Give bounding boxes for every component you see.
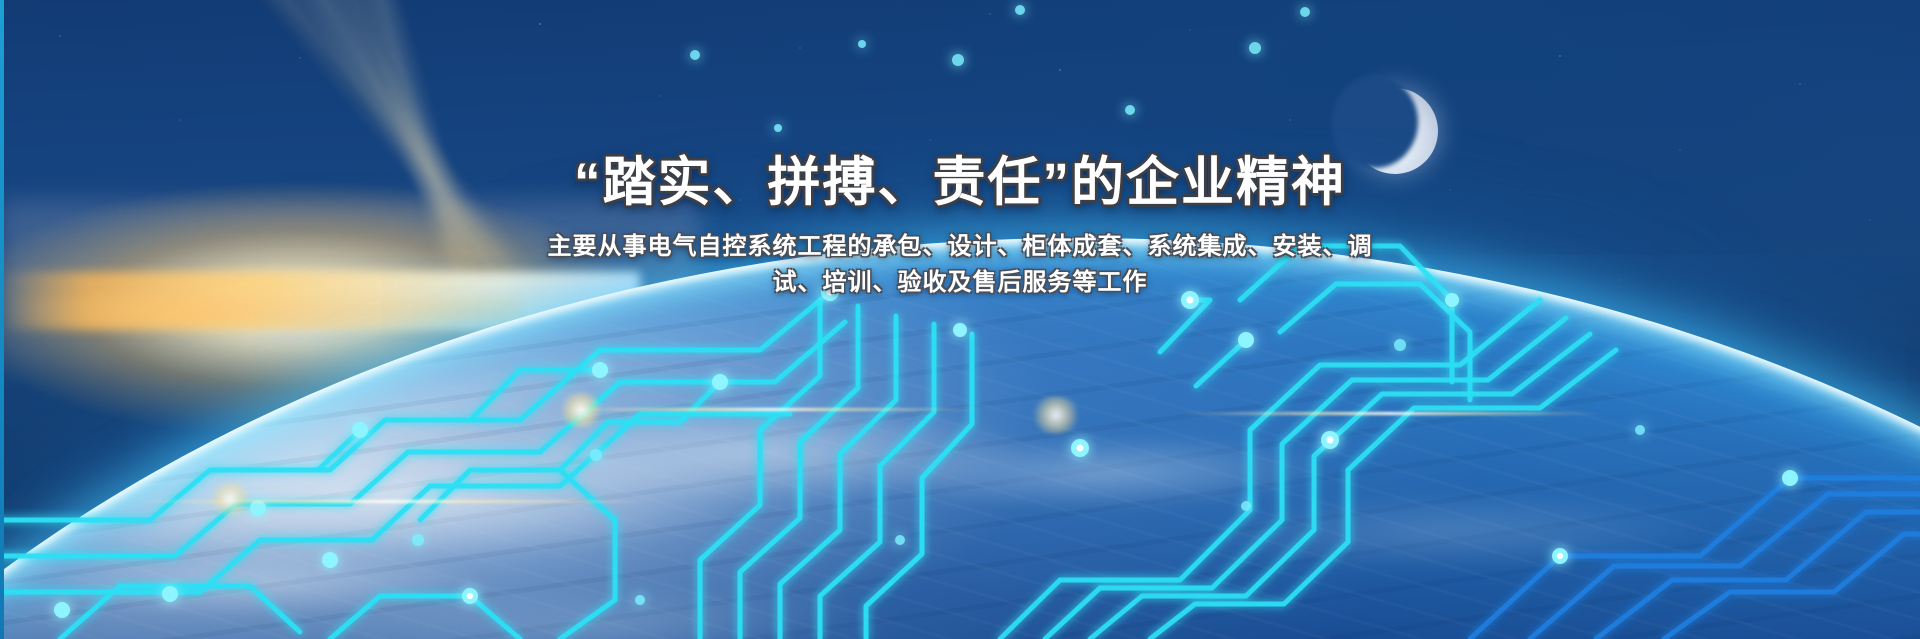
banner-subtitle: 主要从事电气自控系统工程的承包、设计、柜体成套、系统集成、安装、调 试、培训、验… <box>548 229 1373 302</box>
left-edge-accent <box>0 0 4 639</box>
hero-banner: “踏实、拼搏、责任”的企业精神 主要从事电气自控系统工程的承包、设计、柜体成套、… <box>0 0 1920 639</box>
banner-subtitle-line1: 主要从事电气自控系统工程的承包、设计、柜体成套、系统集成、安装、调 <box>548 233 1373 260</box>
banner-copy: “踏实、拼搏、责任”的企业精神 主要从事电气自控系统工程的承包、设计、柜体成套、… <box>0 0 1920 639</box>
banner-subtitle-line2: 试、培训、验收及售后服务等工作 <box>548 265 1373 301</box>
banner-headline: “踏实、拼搏、责任”的企业精神 <box>574 152 1346 215</box>
